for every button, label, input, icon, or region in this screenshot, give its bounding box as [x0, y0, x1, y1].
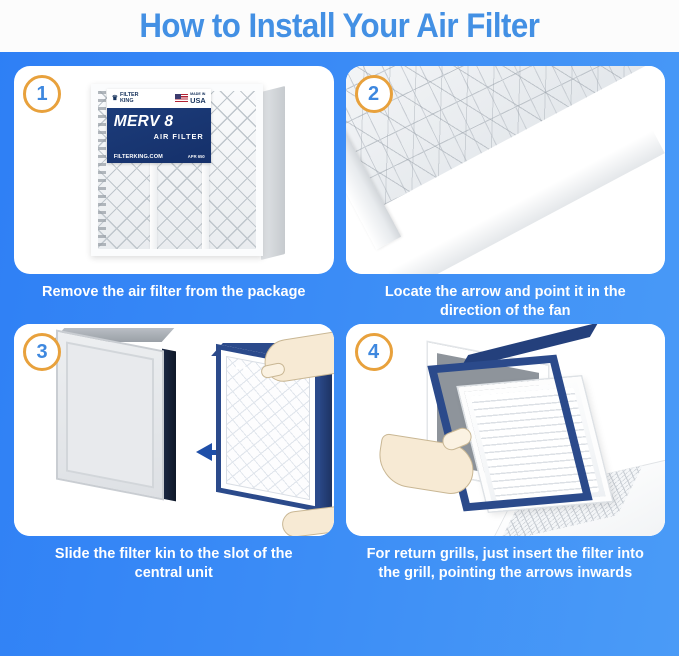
step-1-image-card: 1 ♛ FIL — [14, 66, 334, 274]
website-text: FILTERKING.COM — [114, 154, 163, 160]
made-in-usa-mark: MADE IN USA — [175, 93, 206, 104]
step-panel-1: 1 ♛ FIL — [14, 66, 334, 320]
central-unit-body — [56, 330, 164, 501]
step-4-image-card: 4 ▶▶ — [346, 324, 666, 536]
step-2-image-card: 2 Air Filter AIRFLOW — [346, 66, 666, 274]
air-filter-product-photo: ♛ FILTER KING MADE IN USA — [14, 66, 334, 274]
filter-corner-body — [346, 66, 666, 274]
filter-king-logo: ♛ FILTER KING — [112, 93, 139, 104]
label-blue-panel: MERV 8 AIR FILTER FILTERKING.COM APR 650 — [107, 108, 211, 163]
step-2-caption: Locate the arrow and point it in the dir… — [346, 274, 666, 320]
crown-icon: ♛ — [112, 95, 118, 102]
filter-corner-with-airflow-arrow: Air Filter AIRFLOW — [346, 66, 666, 274]
filter-side-depth — [261, 86, 285, 260]
step-panel-2: 2 Air Filter AIRFLOW Locate the arrow an… — [346, 66, 666, 320]
made-in-text-block: MADE IN USA — [190, 93, 206, 104]
step-4-caption: For return grills, just insert the filte… — [346, 536, 666, 582]
brand-line-2: KING — [120, 98, 133, 104]
step-1-caption: Remove the air filter from the package — [14, 274, 334, 302]
step-4-number-badge: 4 — [355, 333, 393, 371]
merv-rating-text: MERV 8 — [114, 114, 204, 130]
step-3-image-card: 3 ▶▶ — [14, 324, 334, 536]
step-2-number-badge: 2 — [355, 75, 393, 113]
filter-body: ♛ FILTER KING MADE IN USA — [91, 84, 263, 256]
step-3-number-badge: 3 — [23, 333, 61, 371]
step-1-number-badge: 1 — [23, 75, 61, 113]
brand-text: FILTER KING — [120, 93, 138, 104]
page-title: How to Install Your Air Filter — [140, 7, 540, 46]
central-unit-slot-recess — [66, 342, 154, 489]
filter-pleat-ticks — [98, 91, 106, 249]
filter-inserted-into-return-grill-illustration: ▶▶ — [346, 324, 666, 536]
steps-grid: 1 ♛ FIL — [0, 52, 679, 582]
label-top-row: ♛ FILTER KING MADE IN USA — [107, 89, 211, 108]
step-panel-3: 3 ▶▶ Slide the filter kin — [14, 324, 334, 582]
label-bottom-row: FILTERKING.COM APR 650 — [114, 154, 205, 160]
product-type-text: AIR FILTER — [114, 132, 204, 141]
filter-sliding-into-central-unit-illustration: ▶▶ — [14, 324, 334, 536]
step-panel-4: 4 ▶▶ For return grills, just insert the … — [346, 324, 666, 582]
insert-direction-arrow-icon — [196, 443, 212, 461]
central-unit-slot-edge — [162, 349, 176, 502]
step-3-caption: Slide the filter kin to the slot of the … — [14, 536, 334, 582]
page-header: How to Install Your Air Filter — [0, 0, 679, 52]
apr-rating-text: APR 650 — [188, 154, 205, 159]
filter-side-edge — [318, 364, 332, 515]
country-label: USA — [190, 97, 206, 104]
hand-supporting-filter-bottom — [281, 505, 334, 536]
usa-flag-icon — [175, 94, 188, 102]
filter-product-label: ♛ FILTER KING MADE IN USA — [107, 89, 211, 163]
